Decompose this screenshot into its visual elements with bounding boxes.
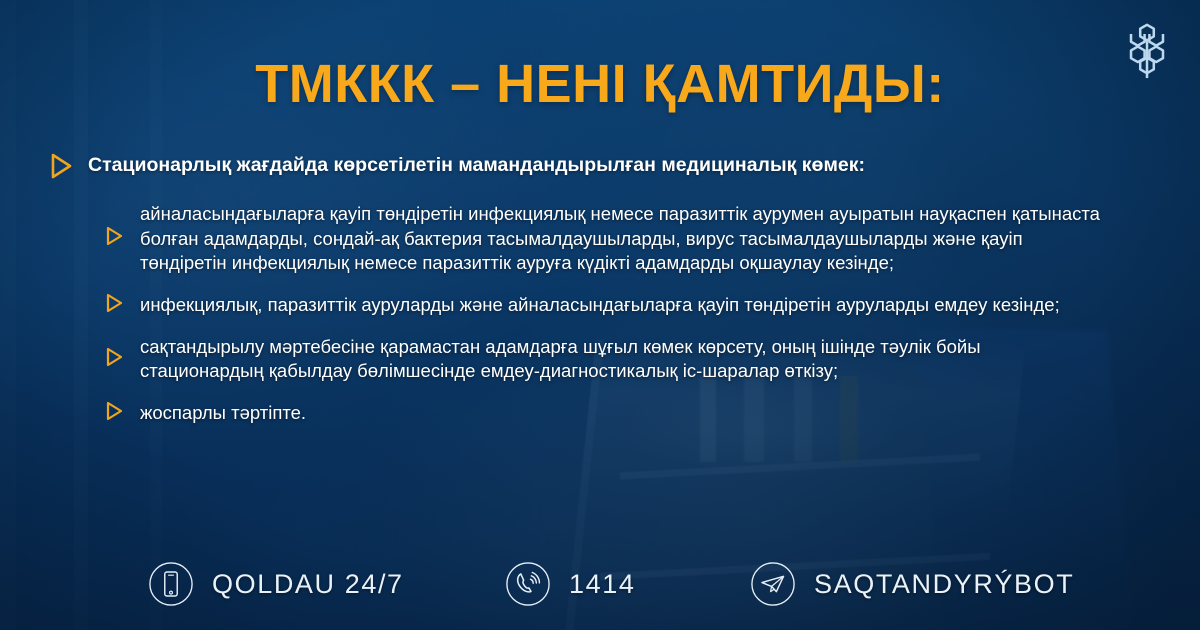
presentation-slide: ТМККК – НЕНІ ҚАМТИДЫ: Стационарлық жағда… xyxy=(0,0,1200,630)
mobile-phone-icon xyxy=(148,561,194,607)
list-item: айналасындағыларға қауіп төндіретін инфе… xyxy=(104,202,1104,276)
list-item-text: жоспарлы тәртіпте. xyxy=(140,401,1104,426)
footer-item-hotline[interactable]: 1414 xyxy=(505,561,635,607)
footer-item-label: 1414 xyxy=(569,569,635,600)
slide-title: ТМККК – НЕНІ ҚАМТИДЫ: xyxy=(0,56,1200,113)
footer-contact-bar: QOLDAU 24/7 1414 xyxy=(0,538,1200,630)
footer-item-telegram-bot[interactable]: SAQTANDYRÝBOT xyxy=(750,561,1074,607)
ringing-phone-icon xyxy=(505,561,551,607)
list-item-text: айналасындағыларға қауіп төндіретін инфе… xyxy=(140,202,1104,276)
triangle-bullet-icon xyxy=(104,292,124,319)
bullet-list: айналасындағыларға қауіп төндіретін инфе… xyxy=(104,202,1104,427)
telegram-paper-plane-icon xyxy=(750,561,796,607)
list-item-text: инфекциялық, паразиттік ауруларды және а… xyxy=(140,293,1104,318)
list-item-text: сақтандырылу мәртебесіне қарамастан адам… xyxy=(140,335,1104,384)
list-item: жоспарлы тәртіпте. xyxy=(104,400,1104,427)
triangle-bullet-icon xyxy=(48,152,74,185)
lead-statement-row: Стационарлық жағдайда көрсетілетін маман… xyxy=(48,152,1140,185)
triangle-bullet-icon xyxy=(104,346,124,373)
list-item: инфекциялық, паразиттік ауруларды және а… xyxy=(104,292,1104,319)
triangle-bullet-icon xyxy=(104,225,124,252)
footer-item-qoldau[interactable]: QOLDAU 24/7 xyxy=(148,561,404,607)
list-item: сақтандырылу мәртебесіне қарамастан адам… xyxy=(104,335,1104,384)
triangle-bullet-icon xyxy=(104,400,124,427)
lead-statement-text: Стационарлық жағдайда көрсетілетін маман… xyxy=(88,152,865,178)
footer-item-label: QOLDAU 24/7 xyxy=(212,569,404,600)
footer-item-label: SAQTANDYRÝBOT xyxy=(814,569,1074,600)
